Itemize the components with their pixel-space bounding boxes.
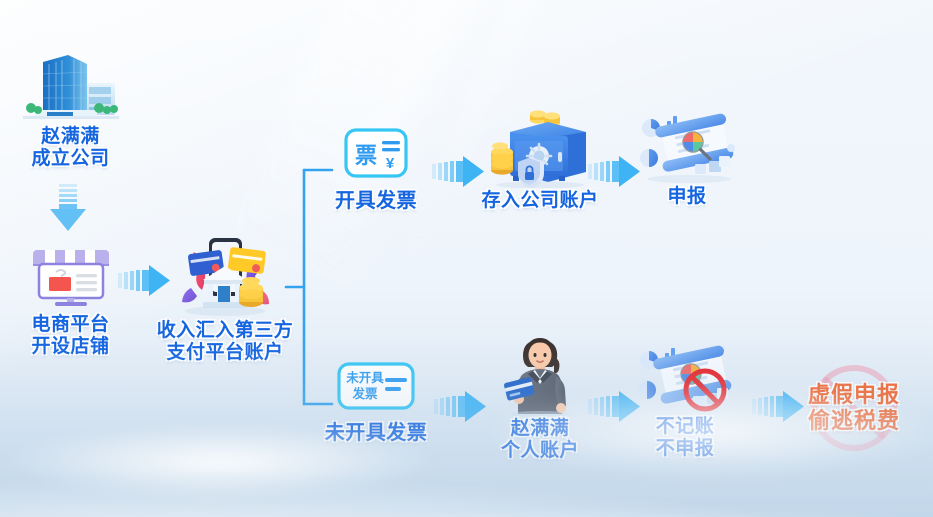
invoice-issued-icon: 票 ¥ [344, 128, 408, 178]
online-storefront-icon [29, 244, 113, 310]
tax-filing-prohibited-icon [629, 340, 741, 416]
node-personal-account: 赵满满 个人账户 [482, 330, 598, 461]
tax-filing-scroll-icon [631, 106, 743, 184]
node-declare: 申报 [628, 106, 746, 208]
node-no-books-label: 不记账 不申报 [628, 416, 742, 459]
node-ecommerce-label: 电商平台 开设店铺 [8, 314, 133, 357]
node-invoice-issued: 票 ¥ 开具发票 [324, 128, 428, 213]
prohibition-stamp-icon [786, 362, 922, 454]
node-company-label: 赵满满 成立公司 [8, 126, 133, 169]
safe-vault-coins-icon [486, 106, 594, 188]
svg-text:¥: ¥ [386, 155, 395, 172]
node-third-party-payment: 收入汇入第三方 支付平台账户 [146, 236, 304, 363]
node-result: 虚假申报 偷逃税费 [786, 362, 922, 454]
svg-text:未开具: 未开具 [345, 370, 384, 385]
node-invoice-issued-label: 开具发票 [324, 190, 428, 213]
node-declare-label: 申报 [628, 186, 746, 208]
svg-text:发票: 发票 [351, 386, 378, 401]
infographic-canvas: 赵满满 成立公司 [0, 0, 933, 517]
node-result-label: 虚假申报 偷逃税费 [808, 382, 900, 433]
node-company: 赵满满 成立公司 [8, 50, 133, 169]
node-company-account-label: 存入公司账户 [478, 190, 602, 212]
node-company-account: 存入公司账户 [478, 106, 602, 212]
mobile-payment-bank-icon [177, 236, 273, 318]
node-third-party-payment-label: 收入汇入第三方 支付平台账户 [146, 320, 304, 363]
invoice-not-issued-icon: 未开具 发票 [337, 362, 415, 410]
node-no-books: 不记账 不申报 [628, 340, 742, 459]
node-ecommerce: 电商平台 开设店铺 [8, 244, 133, 357]
office-building-icon [23, 50, 119, 122]
svg-text:票: 票 [355, 143, 377, 168]
node-personal-account-label: 赵满满 个人账户 [482, 418, 598, 461]
woman-holding-bank-card-icon [497, 330, 583, 416]
node-invoice-not-issued-label: 未开具发票 [316, 422, 436, 445]
node-invoice-not-issued: 未开具 发票 未开具发票 [316, 362, 436, 445]
